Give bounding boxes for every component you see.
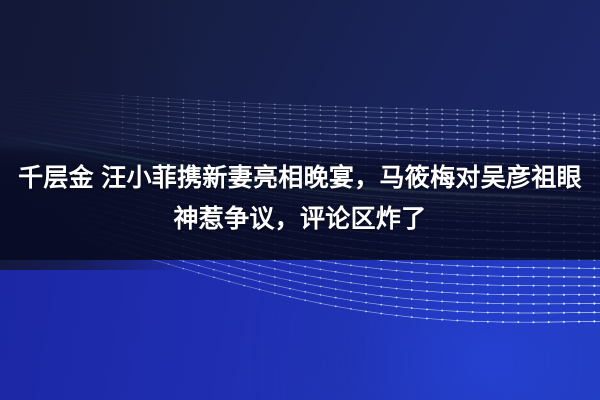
- headline-text: 千层金 汪小菲携新妻亮相晚宴，马筱梅对吴彦祖眼神惹争议，评论区炸了: [0, 158, 600, 240]
- news-thumbnail-banner: 千层金 汪小菲携新妻亮相晚宴，马筱梅对吴彦祖眼神惹争议，评论区炸了: [0, 0, 600, 400]
